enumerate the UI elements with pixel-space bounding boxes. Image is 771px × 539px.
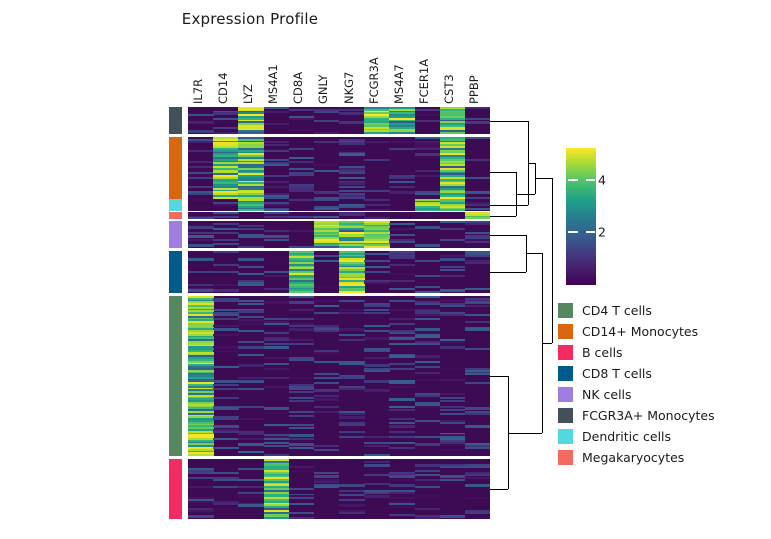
legend-swatch-icon [558, 345, 573, 360]
legend-label: Megakaryocytes [582, 450, 684, 465]
legend-label: CD4 T cells [582, 303, 652, 318]
heatmap-cell [238, 246, 264, 248]
row-group-color-bands [169, 0, 182, 539]
dendrogram-link [498, 489, 508, 490]
heatmap-cell [364, 454, 390, 456]
dendrogram-link [516, 194, 535, 195]
dendrogram-link [498, 216, 516, 217]
dendrogram-link [490, 376, 498, 377]
heatmap-cell [364, 132, 390, 134]
legend-label: CD14+ Monocytes [582, 324, 698, 339]
group-band-b-cells [169, 459, 182, 519]
dendrogram-link [542, 343, 552, 344]
heatmap-cell [389, 132, 415, 134]
dendrogram-link [490, 489, 498, 490]
heatmap-cell [440, 209, 466, 211]
heatmap-block [188, 199, 490, 211]
colorbar-tick-label: 2 [598, 225, 606, 240]
legend-swatch-icon [558, 450, 573, 465]
dendrogram-link [498, 205, 528, 206]
colorbar-tick-label: 4 [598, 172, 606, 187]
heatmap-cell [289, 291, 315, 293]
heatmap-row [188, 454, 490, 456]
heatmap-row [188, 209, 490, 211]
heatmap-block [188, 459, 490, 519]
heatmap-cell [264, 209, 290, 211]
legend-item[interactable]: B cells [558, 342, 768, 363]
dendrogram-link [490, 172, 498, 173]
legend-item[interactable]: Megakaryocytes [558, 447, 768, 468]
dendrogram-link [498, 172, 516, 173]
heatmap-block [188, 107, 490, 134]
legend-item[interactable]: Dendritic cells [558, 426, 768, 447]
heatmap-row [188, 217, 490, 219]
row-group-labels [0, 0, 168, 539]
heatmap-block [188, 212, 490, 219]
legend-swatch-icon [558, 387, 573, 402]
group-band-cd14-monocytes [169, 137, 182, 206]
dendrogram-link [535, 178, 552, 179]
group-band-nk-cells [169, 221, 182, 248]
group-band-dendritic-cells [169, 199, 182, 211]
heatmap-cell [289, 517, 315, 519]
legend-swatch-icon [558, 303, 573, 318]
group-band-fcgr3a-monocytes [169, 107, 182, 134]
legend: CD4 T cellsCD14+ MonocytesB cellsCD8 T c… [558, 300, 768, 468]
dendrogram-link [508, 433, 542, 434]
heatmap-cell [238, 209, 264, 211]
dendrogram-link [490, 121, 498, 122]
heatmap-row [188, 517, 490, 519]
group-band-cd4-t-cells [169, 296, 182, 456]
dendrogram-link [490, 235, 498, 236]
heatmap-cell [264, 517, 290, 519]
legend-item[interactable]: CD14+ Monocytes [558, 321, 768, 342]
dendrogram-link [498, 235, 526, 236]
heatmap-cell [339, 291, 365, 293]
heatmap-cell [465, 217, 490, 219]
heatmap-block [188, 251, 490, 293]
dendrogram-link [490, 205, 498, 206]
heatmap-cell [364, 217, 390, 219]
heatmap-block [188, 137, 490, 206]
colorbar-tick-mark [568, 231, 578, 233]
heatmap-body [188, 0, 490, 539]
heatmap-row [188, 246, 490, 248]
legend-swatch-icon [558, 366, 573, 381]
dendrogram-link [498, 376, 508, 377]
heatmap-cell [289, 246, 315, 248]
colorbar-tick-mark [568, 179, 578, 181]
heatmap-cell [440, 132, 466, 134]
dendrogram-link [528, 163, 535, 164]
legend-label: NK cells [582, 387, 632, 402]
colorbar-tick-mark [586, 179, 595, 181]
heatmap-block [188, 296, 490, 456]
heatmap-cell [188, 454, 214, 456]
row-dendrogram [490, 0, 560, 539]
dendrogram-link [498, 272, 526, 273]
legend-swatch-icon [558, 408, 573, 423]
heatmap-cell [415, 209, 441, 211]
legend-swatch-icon [558, 429, 573, 444]
dendrogram-link [490, 272, 498, 273]
legend-label: CD8 T cells [582, 366, 652, 381]
heatmap-cell [415, 517, 441, 519]
legend-item[interactable]: CD4 T cells [558, 300, 768, 321]
colorbar-gradient [566, 148, 596, 285]
legend-swatch-icon [558, 324, 573, 339]
heatmap-row [188, 132, 490, 134]
heatmap-cell [314, 246, 340, 248]
heatmap-cell [238, 132, 264, 134]
heatmap-cell [213, 132, 239, 134]
dendrogram-link [526, 253, 542, 254]
legend-item[interactable]: NK cells [558, 384, 768, 405]
heatmap-block [188, 221, 490, 248]
heatmap-cell [364, 209, 390, 211]
heatmap-row [188, 291, 490, 293]
dendrogram-link [490, 216, 498, 217]
legend-label: FCGR3A+ Monocytes [582, 408, 715, 423]
legend-item[interactable]: FCGR3A+ Monocytes [558, 405, 768, 426]
heatmap-cell [415, 291, 441, 293]
colorbar: 42 [566, 148, 636, 288]
group-band-megakaryocytes [169, 212, 182, 219]
colorbar-tick-mark [586, 231, 595, 233]
heatmap-cell [364, 246, 390, 248]
heatmap-cell [339, 246, 365, 248]
dendrogram-link [498, 121, 528, 122]
heatmap-cell [264, 454, 290, 456]
group-band-cd8-t-cells [169, 251, 182, 293]
legend-item[interactable]: CD8 T cells [558, 363, 768, 384]
legend-label: Dendritic cells [582, 429, 671, 444]
legend-label: B cells [582, 345, 623, 360]
heatmap-cell [188, 217, 214, 219]
heatmap-cell [314, 132, 340, 134]
dendrogram-link [552, 178, 553, 343]
